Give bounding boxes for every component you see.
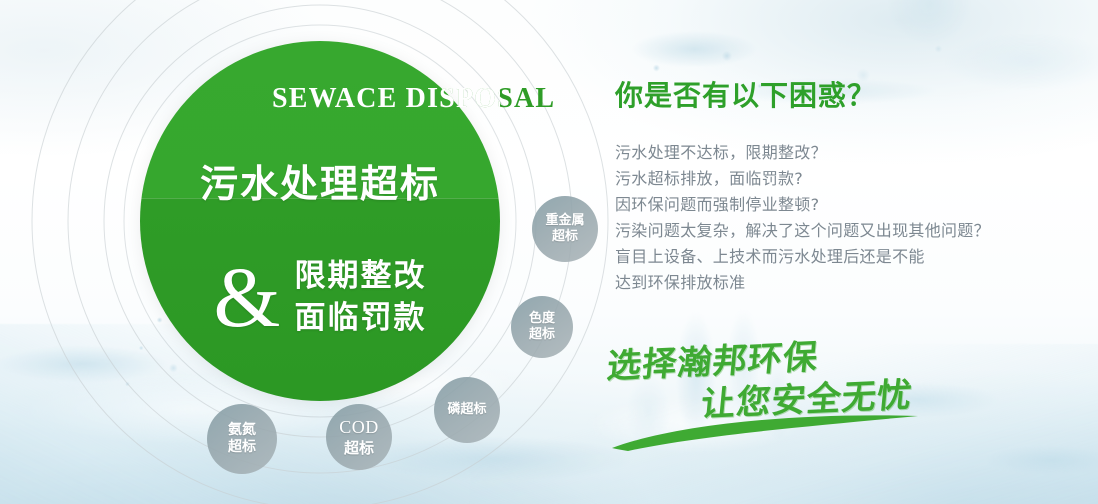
bubble-heavy-metal[interactable]: 重金属 超标 (532, 196, 598, 262)
english-title: SEWACE DISPOSAL SEWACE DISPOSAL (272, 83, 555, 115)
problem-item: 污水超标排放，面临罚款? (615, 166, 1035, 192)
bubble-line-1: COD (339, 417, 379, 439)
ampersand-glyph: & (214, 262, 281, 333)
problem-list: 污水处理不达标，限期整改？ 污水超标排放，面临罚款? 因环保问题而强制停业整顿?… (615, 140, 1035, 296)
hero-main-title: 污水处理超标 (140, 153, 500, 208)
sewage-banner: 污水处理超标 & 限期整改 面临罚款 SEWACE DISPOSAL SEWAC… (0, 0, 1098, 504)
bubble-line-1: 色度 (529, 311, 555, 327)
slogan-swoosh-icon (600, 410, 930, 452)
bubble-line-1: 氨氮 (228, 422, 256, 439)
problem-item: 盲目上设备、上技术而污水处理后还是不能 (615, 244, 1035, 270)
bubble-chroma[interactable]: 色度 超标 (511, 296, 573, 358)
bubble-line-2: 超标 (552, 229, 578, 245)
right-heading: 你是否有以下困惑？ (615, 74, 1035, 114)
bubble-line-2: 超标 (228, 439, 256, 456)
hero-sub-line-1: 限期整改 (294, 257, 426, 297)
problem-item: 达到环保排放标准 (615, 270, 1035, 296)
bubble-line-1: 磷超标 (447, 402, 486, 418)
problem-item: 污水处理不达标，限期整改？ (615, 140, 1035, 166)
bubble-phosphorus[interactable]: 磷超标 (434, 377, 500, 443)
bubble-line-1: 重金属 (545, 213, 584, 229)
hero-sub-line-2: 面临罚款 (294, 299, 426, 339)
bubble-ammonia[interactable]: 氨氮 超标 (207, 404, 277, 474)
hero-subtitle-row: & 限期整改 面临罚款 (140, 257, 500, 338)
bubble-cod[interactable]: COD 超标 (326, 404, 392, 470)
problem-item: 污染问题太复杂，解决了这个问题又出现其他问题？ (615, 218, 1035, 244)
brand-slogan: 选择瀚邦环保 让您安全无忧 (600, 330, 960, 450)
bubble-line-2: 超标 (344, 439, 374, 457)
bubble-line-2: 超标 (529, 327, 555, 343)
hero-sub-lines: 限期整改 面临罚款 (294, 257, 426, 338)
problem-item: 因环保问题而强制停业整顿? (615, 192, 1035, 218)
right-content-column: 你是否有以下困惑？ 污水处理不达标，限期整改？ 污水超标排放，面临罚款? 因环保… (615, 74, 1035, 296)
